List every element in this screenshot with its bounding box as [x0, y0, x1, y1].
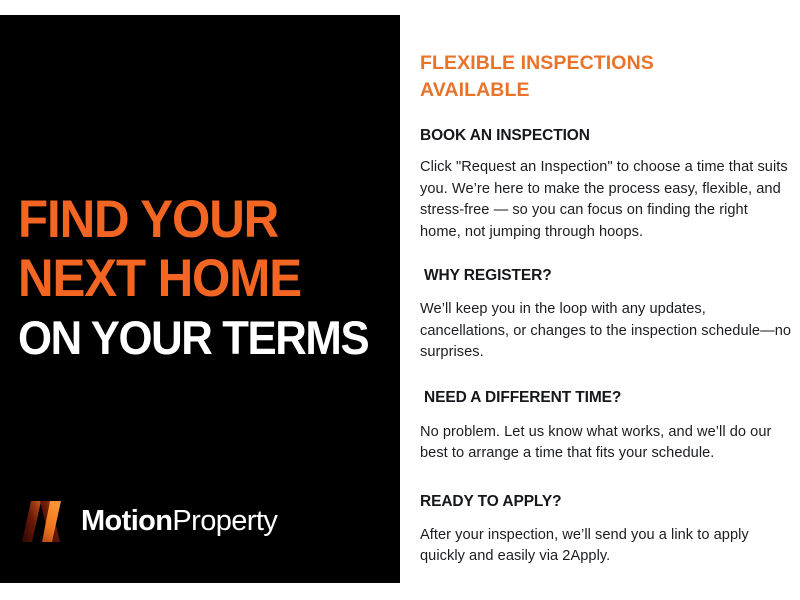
motion-property-logo: MotionProperty [20, 497, 277, 545]
section-body: After your inspection, we’ll send you a … [420, 525, 792, 568]
logo-wordmark: MotionProperty [81, 507, 277, 536]
section-need-a-different-time: NEED A DIFFERENT TIME? No problem. Let u… [420, 388, 792, 465]
promo-page: FIND YOUR NEXT HOME ON YOUR TERMS [0, 0, 800, 600]
section-heading: WHY REGISTER? [420, 266, 792, 286]
section-heading: NEED A DIFFERENT TIME? [420, 388, 792, 408]
headline-line-3: ON YOUR TERMS [18, 308, 364, 367]
logo-wordmark-light: Property [172, 505, 277, 537]
eyebrow-title: FLEXIBLE INSPECTIONS AVAILABLE [420, 0, 690, 104]
section-why-register: WHY REGISTER? We’ll keep you in the loop… [420, 266, 792, 364]
section-body: No problem. Let us know what works, and … [420, 422, 792, 465]
section-body: Click "Request an Inspection" to choose … [420, 157, 792, 243]
motion-m-logo-mark-icon [20, 497, 72, 545]
section-body: We’ll keep you in the loop with any upda… [420, 299, 792, 364]
section-book-an-inspection: BOOK AN INSPECTION Click "Request an Ins… [420, 126, 792, 243]
section-ready-to-apply: READY TO APPLY? After your inspection, w… [420, 492, 792, 568]
section-heading: READY TO APPLY? [420, 492, 792, 512]
section-heading: BOOK AN INSPECTION [420, 126, 792, 146]
content-column: FLEXIBLE INSPECTIONS AVAILABLE BOOK AN I… [420, 0, 792, 600]
hero-panel: FIND YOUR NEXT HOME ON YOUR TERMS [0, 15, 400, 583]
headline-line-2: NEXT HOME [18, 249, 364, 308]
headline-line-1: FIND YOUR [18, 190, 364, 249]
logo-wordmark-bold: Motion [81, 505, 172, 537]
hero-headline: FIND YOUR NEXT HOME ON YOUR TERMS [18, 190, 390, 367]
